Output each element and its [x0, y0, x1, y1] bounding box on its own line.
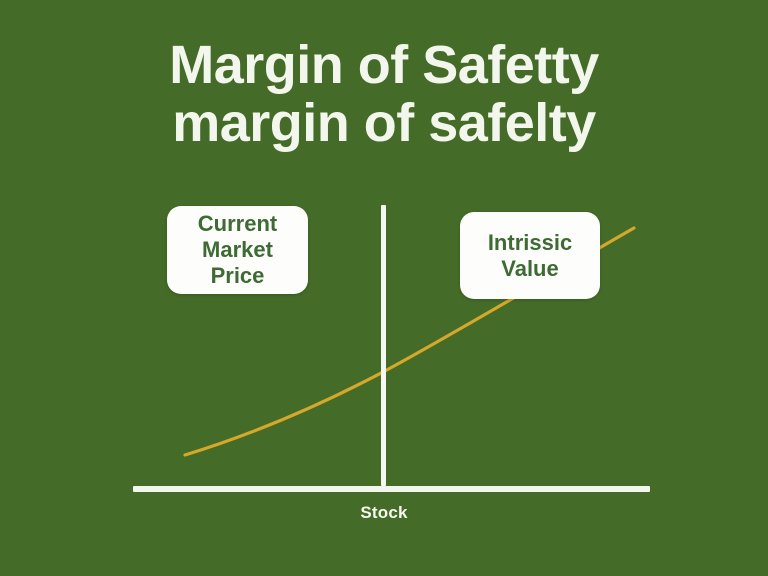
callout-right-label: Intrissic Value	[460, 230, 600, 282]
callout-intrinsic-value: Intrissic Value	[460, 212, 600, 299]
slide-canvas: Margin of Safetty margin of safelty Stoc…	[0, 0, 768, 576]
vertical-divider-line	[381, 205, 386, 486]
callout-left-label: Current Market Price	[167, 211, 308, 289]
x-axis-line	[133, 486, 650, 492]
x-axis-label: Stock	[0, 503, 768, 523]
callout-current-market-price: Current Market Price	[167, 206, 308, 294]
chart-area: Stock	[0, 0, 768, 576]
